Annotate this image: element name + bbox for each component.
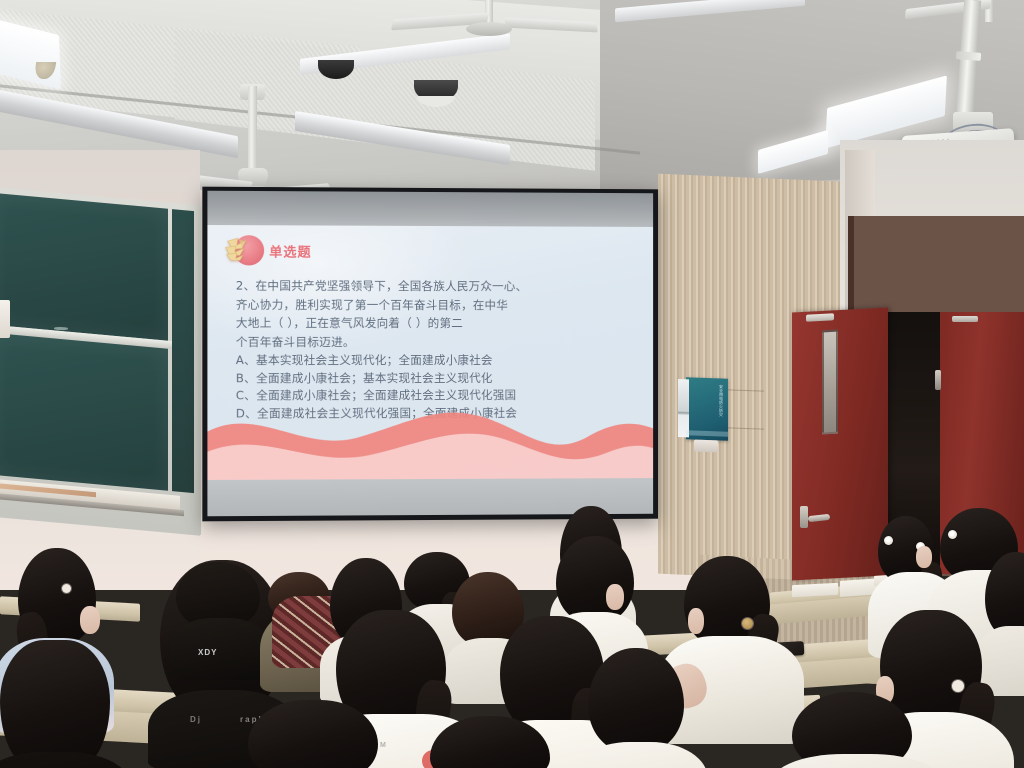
badge-label: 单选题 [269, 241, 311, 260]
question-line: 2、在中国共产党坚强领导下，全国各族人民万众一心、 [236, 277, 640, 295]
question-line: 个百年奋斗目标迈进。 [236, 333, 640, 351]
poster-text: 安全用电防火防灾 [692, 383, 724, 432]
question-line: 大地上（ ），正在意气风发向着（ ）的第二 [236, 315, 640, 333]
hoodie-logo: XDY [198, 648, 217, 657]
poster-band [686, 430, 728, 436]
projection-screen: 单选题 2、在中国共产党坚强领导下，全国各族人民万众一心、 齐心协力，胜利实现了… [202, 187, 658, 522]
question-type-badge: 单选题 [234, 235, 312, 265]
question-line: 齐心协力，胜利实现了第一个百年奋斗目标，在中华 [236, 296, 640, 314]
door-handle-base [800, 506, 808, 528]
blackboard-assembly [0, 186, 201, 536]
blackboard-lower [0, 333, 168, 491]
slide-content: 单选题 2、在中国共产党坚强领导下，全国各族人民万众一心、 齐心协力，胜利实现了… [207, 225, 653, 480]
option-a: A、基本实现社会主义现代化；全面建成小康社会 [236, 352, 640, 370]
poster-spine [678, 379, 689, 437]
door-push-plate[interactable] [806, 313, 834, 321]
door-lock-icon[interactable] [935, 370, 941, 390]
poster-bracket [694, 440, 718, 453]
door-glass-panel [822, 330, 838, 435]
door-leaf-left[interactable] [792, 307, 888, 580]
screen-top-band [207, 191, 653, 227]
blackboard-upper [0, 193, 168, 341]
party-emblem-icon [224, 236, 258, 262]
paper-sheet-icon [792, 583, 838, 597]
door-push-plate[interactable] [952, 316, 978, 322]
option-b: B、全面建成小康社会；基本实现社会主义现代化 [236, 369, 640, 387]
wall-box [0, 300, 10, 338]
classroom-scene: 安全用电防火防灾 [0, 0, 1024, 768]
dome-speaker-icon [414, 80, 458, 102]
safety-poster: 安全用电防火防灾 [686, 377, 728, 440]
blackboard-side-panel [172, 209, 194, 493]
slide-wave-decoration [207, 397, 653, 480]
